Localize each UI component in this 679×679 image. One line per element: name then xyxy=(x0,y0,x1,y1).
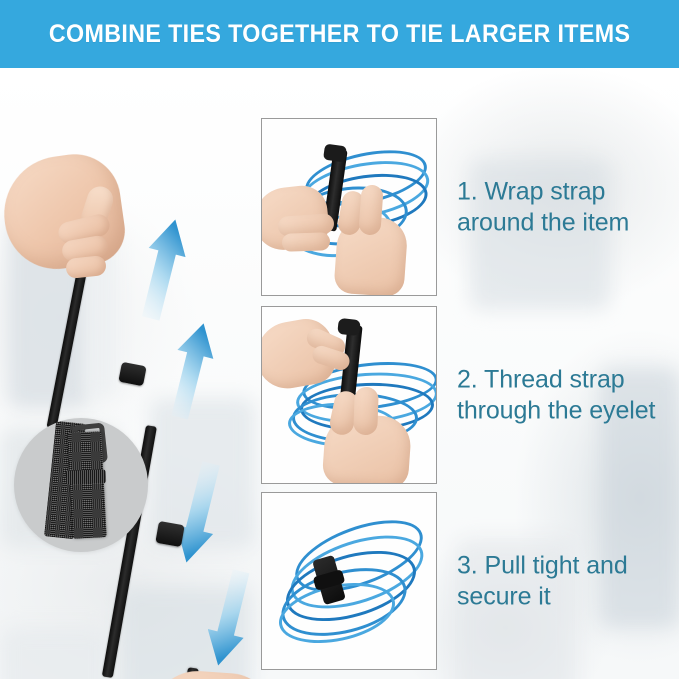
step-row-1: 1. Wrap strap around the item xyxy=(261,118,679,296)
hand-top-finger-3 xyxy=(65,255,107,279)
step-3-line-2: secure it xyxy=(457,581,679,612)
step-row-3: 3. Pull tight and secure it xyxy=(261,492,679,670)
step-2-text: 2. Thread strap through the eyelet xyxy=(457,365,679,426)
strap-joint-closeup xyxy=(14,418,148,552)
strap-joint-buckle-lower xyxy=(155,521,184,547)
step-row-2: 2. Thread strap through the eyelet xyxy=(261,306,679,484)
step-1-text: 1. Wrap strap around the item xyxy=(457,177,679,238)
strap-joint-buckle-upper xyxy=(118,362,146,386)
step-2-photo xyxy=(261,306,437,484)
step-1-photo xyxy=(261,118,437,296)
step-1-line-1: 1. Wrap strap xyxy=(457,177,679,208)
step-1-line-2: around the item xyxy=(457,207,679,238)
banner-title: COMBINE TIES TOGETHER TO TIE LARGER ITEM… xyxy=(49,20,630,49)
step-2-line-1: 2. Thread strap xyxy=(457,365,679,396)
step-3-photo xyxy=(261,492,437,670)
infographic-page: COMBINE TIES TOGETHER TO TIE LARGER ITEM… xyxy=(0,0,679,679)
closeup-strap-eyelet xyxy=(66,469,106,484)
step-2-line-2: through the eyelet xyxy=(457,395,679,426)
step-3-text: 3. Pull tight and secure it xyxy=(457,551,679,612)
combined-ties-demo xyxy=(0,68,252,679)
closeup-strap-front xyxy=(67,431,107,539)
step-3-line-1: 3. Pull tight and xyxy=(457,551,679,582)
header-banner: COMBINE TIES TOGETHER TO TIE LARGER ITEM… xyxy=(0,0,679,68)
steps-column: 1. Wrap strap around the item xyxy=(261,118,679,670)
